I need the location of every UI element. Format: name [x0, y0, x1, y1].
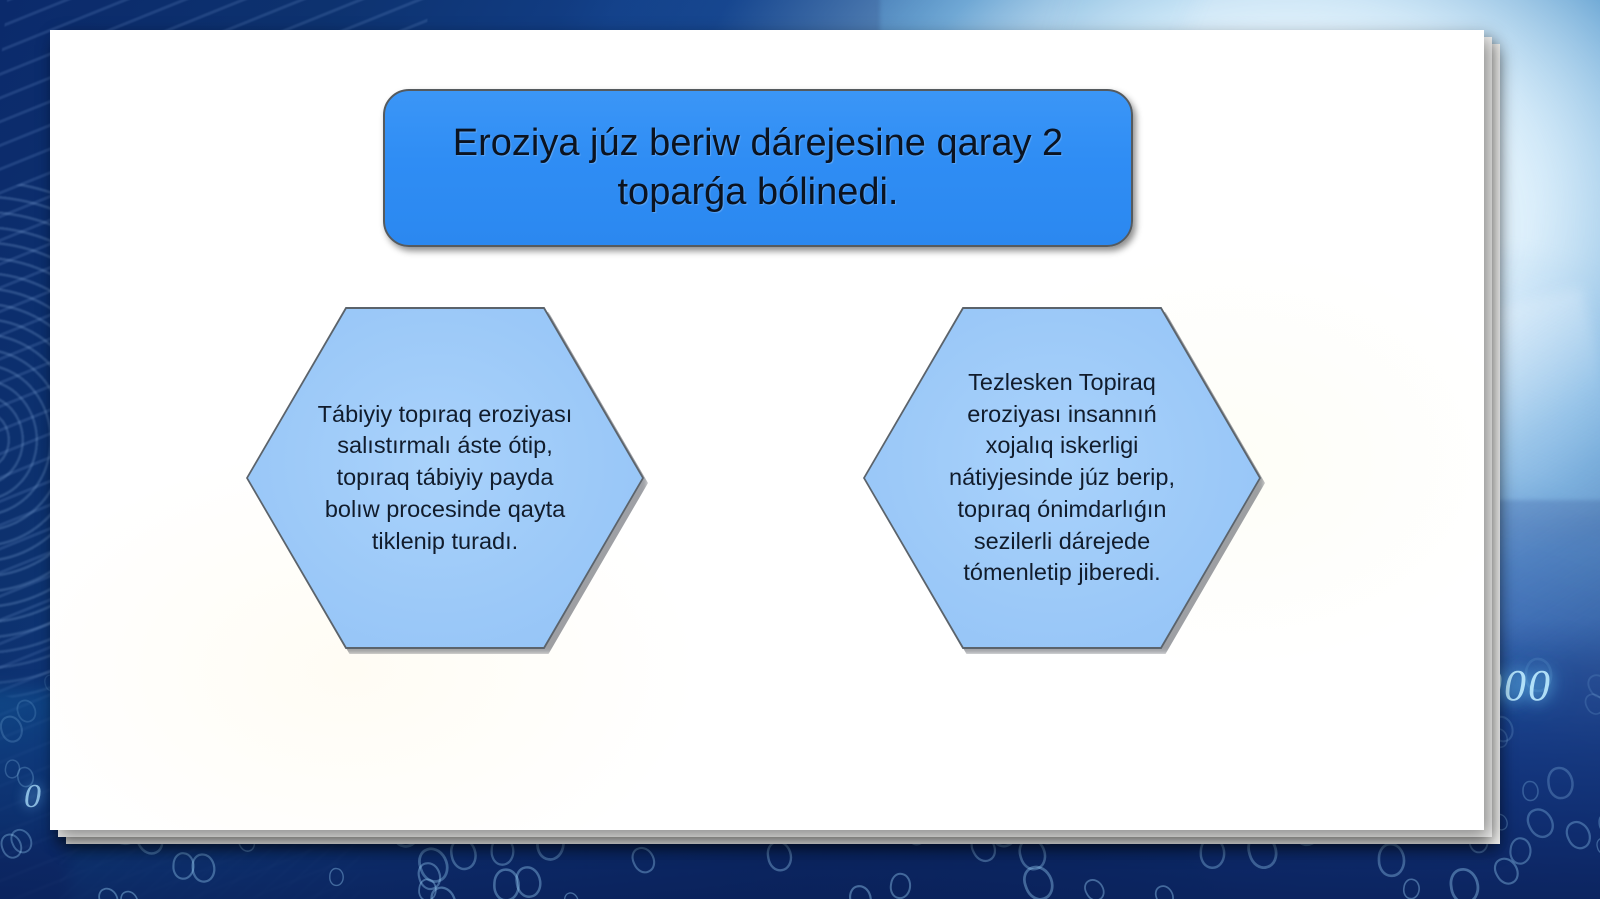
binary-zero-icon: [1447, 866, 1481, 899]
binary-zero-icon: [1545, 765, 1575, 800]
binary-zero-icon: [1378, 843, 1406, 877]
binary-zero-icon: [848, 883, 874, 899]
binary-zero-icon: [1152, 883, 1177, 899]
hexagon-right[interactable]: Tezlesken Topiraq eroziyası insannıń xoj…: [863, 307, 1261, 649]
hexagon-right-text: Tezlesken Topiraq eroziyası insannıń xoj…: [933, 367, 1191, 589]
presentation-viewport: 000 0 Eroziya júz beriw dárejesine qaray…: [0, 0, 1600, 899]
background-glow-digit-icon: 0: [24, 778, 41, 816]
binary-zero-icon: [96, 884, 123, 899]
hexagon-left-fill: Tábiyiy topıraq eroziyası salıstırmalı á…: [248, 309, 642, 647]
binary-zero-icon: [1522, 781, 1539, 802]
binary-zero-icon: [563, 890, 581, 899]
hexagon-right-fill: Tezlesken Topiraq eroziyası insannıń xoj…: [865, 309, 1259, 647]
binary-zero-icon: [492, 868, 520, 899]
slide-canvas: Eroziya júz beriw dárejesine qaray 2 top…: [50, 30, 1484, 830]
hexagon-left-text: Tábiyiy topıraq eroziyası salıstırmalı á…: [316, 399, 574, 558]
slide-title-box[interactable]: Eroziya júz beriw dárejesine qaray 2 top…: [383, 89, 1133, 247]
binary-zero-icon: [171, 852, 195, 881]
binary-zero-icon: [628, 843, 659, 877]
binary-zero-icon: [1562, 817, 1595, 853]
hexagon-left[interactable]: Tábiyiy topıraq eroziyası salıstırmalı á…: [246, 307, 644, 649]
binary-zero-icon: [1595, 836, 1600, 856]
slide-title-text: Eroziya júz beriw dárejesine qaray 2 top…: [411, 119, 1105, 218]
binary-zero-icon: [1081, 875, 1109, 899]
binary-zero-icon: [1402, 877, 1422, 899]
binary-zero-icon: [1582, 690, 1600, 718]
binary-zero-icon: [118, 888, 142, 899]
binary-zero-icon: [329, 868, 344, 887]
binary-zero-icon: [887, 872, 912, 899]
binary-zero-icon: [1522, 804, 1559, 843]
